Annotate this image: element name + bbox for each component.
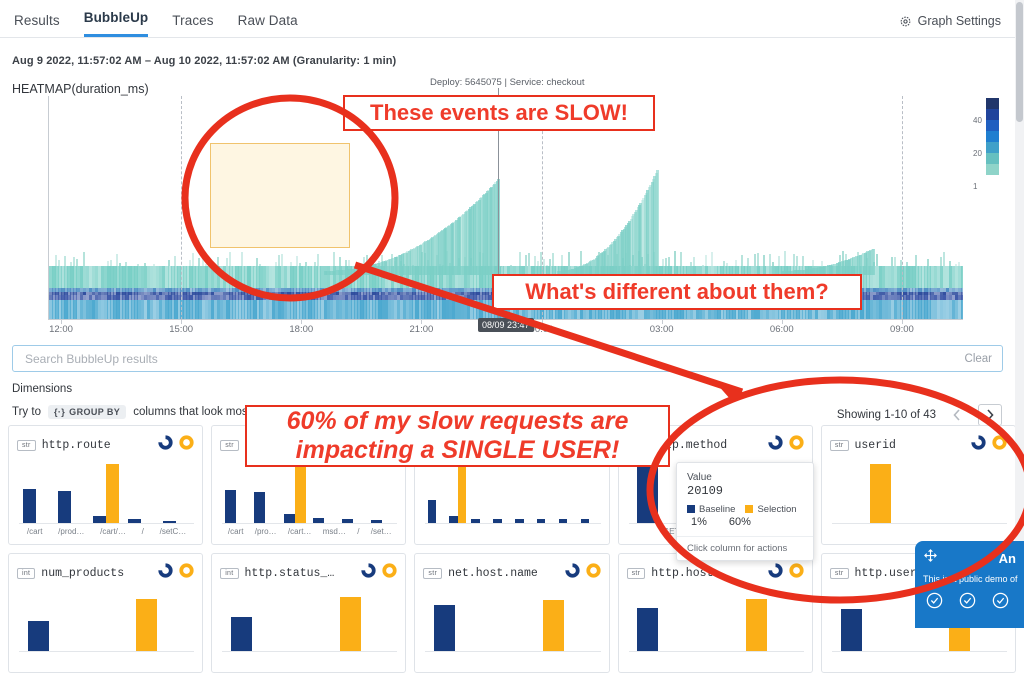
heatmap-cell (348, 260, 350, 266)
demo-banner[interactable]: An This is a public demo of (915, 541, 1024, 628)
heatmap-cell (958, 262, 960, 266)
heatmap-cell (226, 258, 228, 266)
y-axis-tick (48, 141, 49, 142)
heatmap-cell (656, 170, 659, 275)
column-type-badge: str (423, 568, 442, 579)
heatmap-cell (543, 259, 545, 266)
y-axis-tick (48, 208, 49, 209)
category-label: msd… (323, 527, 346, 536)
heatmap-cell (70, 262, 72, 266)
heatmap-cell (345, 260, 347, 266)
heatmap-cell (189, 260, 191, 267)
heatmap-cell (961, 300, 963, 320)
heatmap-cell (202, 251, 204, 266)
card-donuts (971, 435, 1007, 455)
try-prefix-label: Try to (12, 406, 41, 418)
card-bar-chart (222, 464, 397, 524)
value-tooltip: Value 20109 Baseline Selection 1% 60% Cl… (676, 462, 814, 561)
selection-donut-icon[interactable] (179, 563, 194, 583)
heatmap-cell (107, 261, 109, 266)
heatmap-cell (546, 265, 548, 266)
card-category-labels: /cart/pro…/cart…msd…//set… (222, 527, 397, 540)
annotation-sixty-percent-label: 60% of my slow requests are impacting a … (245, 405, 670, 467)
move-icon[interactable] (923, 548, 938, 568)
tab-label: BubbleUp (84, 10, 149, 25)
selection-bar[interactable] (106, 464, 119, 524)
tooltip-footer: Click column for actions (677, 536, 813, 560)
y-axis-tick (48, 186, 49, 187)
dimensions-heading: Dimensions (12, 383, 72, 395)
column-name: http.host (651, 567, 762, 580)
scrollbar-thumb[interactable] (1016, 2, 1023, 122)
x-axis-tick (902, 320, 903, 324)
heatmap-cell (241, 252, 243, 266)
heatmap-cell (174, 256, 176, 266)
banner-top-row: An (915, 541, 1024, 568)
selection-donut-icon[interactable] (789, 563, 804, 583)
baseline-bar[interactable] (225, 490, 236, 524)
legend-swatch (986, 98, 999, 109)
heatmap-cell (796, 256, 798, 267)
heatmap-cell (217, 257, 219, 266)
category-label: /pro… (255, 527, 277, 536)
x-axis-tick-label: 03:00 (650, 324, 674, 335)
heatmap-cell (705, 255, 707, 266)
tooltip-selection-legend: Selection (745, 504, 796, 515)
time-range-label: Aug 9 2022, 11:57:02 AM – Aug 10 2022, 1… (12, 55, 396, 67)
baseline-donut-icon[interactable] (158, 563, 173, 583)
heatmap-cell (73, 257, 75, 267)
next-page-button[interactable] (978, 404, 1002, 426)
baseline-donut-icon[interactable] (158, 435, 173, 455)
heatmap-cell (915, 255, 917, 266)
category-label: /set… (371, 527, 392, 536)
dimension-card[interactable]: intnum_products (8, 553, 203, 673)
legend-swatch (986, 142, 999, 153)
heatmap-cell (55, 255, 57, 267)
heatmap-cell (723, 261, 725, 267)
heatmap-cell (568, 252, 570, 266)
gear-icon (899, 15, 912, 28)
heatmap-cell (894, 257, 896, 266)
selection-bar[interactable] (746, 599, 767, 652)
card-bar-chart (222, 592, 397, 652)
baseline-bar[interactable] (841, 609, 862, 652)
heatmap-cell (872, 249, 875, 276)
card-axis-line (425, 651, 600, 652)
tab-bar: Results BubbleUp Traces Raw Data Graph S… (0, 0, 1015, 38)
selection-bar[interactable] (870, 464, 891, 524)
check-circle-icon[interactable] (925, 591, 944, 615)
column-type-badge: str (830, 568, 849, 579)
heatmap-cell (769, 254, 771, 266)
selection-bar[interactable] (136, 599, 157, 652)
graph-settings-label: Graph Settings (918, 14, 1001, 28)
baseline-bar[interactable] (428, 500, 436, 524)
heatmap-cell (741, 255, 743, 266)
legend-swatch (986, 120, 999, 131)
column-name: num_products (41, 567, 152, 580)
card-axis-line (19, 523, 194, 524)
category-label: /prod… (58, 527, 84, 536)
annotation-different-label: What's different about them? (492, 274, 862, 310)
card-row: intnum_productsinthttp.status_…strnet.ho… (8, 553, 1016, 673)
cursor-time-flag: 08/09 23:47 (478, 318, 534, 332)
baseline-bar[interactable] (254, 492, 265, 524)
x-axis-tick (301, 320, 302, 324)
annotation-slow-label: These events are SLOW! (343, 95, 655, 131)
selection-bar[interactable] (295, 464, 306, 524)
y-axis-tick (48, 163, 49, 164)
heatmap-cell (711, 252, 713, 266)
heatmap-cell (693, 257, 695, 266)
heatmap-cell (290, 262, 292, 266)
pagination: Showing 1-10 of 43 (837, 404, 1002, 426)
tab-results[interactable]: Results (14, 13, 60, 37)
tooltip-baseline-pct: 1% (691, 516, 707, 528)
heatmap-cell (119, 263, 121, 266)
card-axis-line (222, 651, 397, 652)
card-axis-line (425, 523, 600, 524)
column-type-badge: str (830, 440, 849, 451)
group-by-label: GROUP BY (69, 407, 120, 417)
tooltip-value-label: Value (687, 472, 803, 483)
card-bar-chart (19, 464, 194, 524)
legend-swatch (986, 131, 999, 142)
heatmap-cell (961, 292, 963, 295)
x-axis-tick (421, 320, 422, 324)
deploy-marker-label: Deploy: 5645075 | Service: checkout (430, 77, 585, 88)
tooltip-body: Value 20109 Baseline Selection 1% 60% (677, 463, 813, 536)
search-bar[interactable]: Clear (12, 345, 1003, 372)
heatmap-cell (891, 257, 893, 266)
heatmap-cell (537, 261, 539, 266)
column-type-badge: int (17, 568, 35, 579)
brackets-icon: {·} (54, 407, 65, 417)
search-input[interactable] (23, 351, 965, 367)
selection-donut-icon[interactable] (179, 435, 194, 455)
heatmap-cell (198, 258, 200, 266)
heatmap-cell (784, 251, 786, 267)
selection-bar[interactable] (340, 597, 361, 652)
y-axis-tick (48, 230, 49, 231)
card-axis-line (832, 651, 1007, 652)
x-axis-tick-label: 21:00 (410, 324, 434, 335)
legend-tick-label: 40 (973, 116, 982, 125)
x-axis-tick (542, 320, 543, 324)
dimension-card[interactable]: strnet.host.name (414, 553, 609, 673)
selection-bar[interactable] (543, 600, 564, 652)
banner-subtitle: This is a public demo of (915, 568, 1024, 584)
heatmap-cell (519, 252, 521, 266)
heatmap-cell (281, 254, 283, 266)
x-axis-tick-label: 09:00 (890, 324, 914, 335)
category-label: / (142, 527, 144, 536)
card-axis-line (832, 523, 1007, 524)
column-name: net.host.name (448, 567, 559, 580)
y-axis-tick (48, 118, 49, 119)
heatmap-cell (763, 255, 765, 266)
heatmap-cell (299, 263, 301, 266)
baseline-donut-icon[interactable] (565, 563, 580, 583)
heatmap-cell (528, 253, 530, 266)
heatmap-cell (961, 295, 963, 300)
selection-donut-icon[interactable] (382, 563, 397, 583)
card-donuts (158, 563, 194, 583)
baseline-bar[interactable] (434, 605, 455, 652)
baseline-bar[interactable] (23, 489, 36, 524)
card-donuts (768, 435, 804, 455)
heatmap-cell (754, 254, 756, 266)
card-category-labels: /cart/prod…/cart/…//setC… (19, 527, 194, 540)
category-label: /cart (27, 527, 43, 536)
tooltip-legend: Baseline Selection (687, 504, 803, 515)
legend-swatch (986, 153, 999, 164)
baseline-bar[interactable] (231, 617, 252, 652)
group-by-button[interactable]: {·} GROUP BY (48, 405, 126, 419)
showing-label: Showing 1-10 of 43 (837, 409, 936, 421)
chart-gridline (902, 96, 903, 320)
heatmap-cell (680, 252, 682, 266)
heatmap-cell (116, 254, 118, 267)
heatmap-cell (314, 262, 316, 266)
heatmap-cell (339, 257, 341, 266)
heatmap-cell (214, 264, 216, 266)
x-axis-tick-label: 18:00 (289, 324, 313, 335)
heatmap-cell (229, 252, 231, 266)
selection-donut-icon[interactable] (586, 563, 601, 583)
heatmap-cell (525, 255, 527, 266)
card-donuts (158, 435, 194, 455)
legend-tick-label: 20 (973, 149, 982, 158)
baseline-bar[interactable] (637, 608, 658, 652)
card-bar-chart (19, 592, 194, 652)
tab-label: Traces (172, 13, 213, 28)
column-name: http.status_… (245, 567, 356, 580)
card-header: strnet.host.name (415, 554, 608, 583)
heatmap-cell (668, 257, 670, 266)
heatmap-cell (772, 262, 774, 266)
category-label: / (357, 527, 359, 536)
heatmap-cell (110, 260, 112, 266)
heatmap-cell (153, 264, 155, 266)
card-axis-line (19, 651, 194, 652)
category-label: /setC… (160, 527, 187, 536)
heatmap-cell (256, 258, 258, 267)
heatmap-cell (949, 261, 951, 266)
heatmap-cell (961, 266, 963, 288)
clear-search-button[interactable]: Clear (965, 353, 992, 365)
card-bar-chart (425, 464, 600, 524)
heatmap-cell (192, 253, 194, 267)
heatmap-cell (876, 254, 878, 266)
x-axis-tick (662, 320, 663, 324)
heatmap-cell (561, 255, 563, 267)
dimension-card[interactable]: struserid (821, 425, 1016, 545)
legend-swatch (986, 164, 999, 175)
banner-checks (915, 584, 1024, 615)
heatmap-cell (927, 259, 929, 266)
heatmap-cell (296, 256, 298, 266)
heatmap-cell (580, 251, 582, 267)
dimension-card[interactable]: strhttp.host (618, 553, 813, 673)
tab-traces[interactable]: Traces (172, 13, 213, 37)
heatmap-cell (275, 262, 277, 267)
legend-swatch (986, 109, 999, 120)
card-header: struserid (822, 426, 1015, 455)
heatmap-cell (64, 256, 66, 266)
card-donuts (565, 563, 601, 583)
heatmap-cell (137, 264, 139, 266)
baseline-donut-icon[interactable] (971, 435, 986, 455)
heatmap-cell (726, 263, 728, 266)
heatmap-cell (278, 255, 280, 266)
heatmap-cell (906, 262, 908, 266)
annotation-sixty-line1: 60% of my slow requests are (287, 407, 629, 436)
dimension-card[interactable]: inthttp.status_… (211, 553, 406, 673)
page-scrollbar[interactable] (1015, 0, 1024, 628)
heatmap-cell (83, 252, 85, 267)
banner-title: An (999, 551, 1016, 566)
heatmap-cell (549, 259, 551, 267)
heatmap-cell (747, 258, 749, 267)
card-bar-chart (425, 592, 600, 652)
card-header: intnum_products (9, 554, 202, 583)
heatmap-cell (943, 252, 945, 266)
dimension-card[interactable]: strhttp.route/cart/prod…/cart/…//setC… (8, 425, 203, 545)
heatmap-cell (961, 288, 963, 292)
heatmap-cell (802, 256, 804, 266)
heatmap-cell (510, 265, 512, 266)
tooltip-percents: 1% 60% (687, 516, 803, 528)
column-type-badge: str (627, 568, 646, 579)
heatmap-cell (144, 263, 146, 266)
card-donuts (768, 563, 804, 583)
heatmap-cell (778, 256, 780, 266)
selection-donut-icon[interactable] (992, 435, 1007, 455)
annotation-arrow-head (716, 383, 748, 404)
card-bar-chart (629, 592, 804, 652)
heatmap-cell (757, 253, 759, 266)
card-donuts (361, 563, 397, 583)
chart-gridline (181, 96, 182, 320)
baseline-donut-icon[interactable] (768, 435, 783, 455)
x-axis-tick (181, 320, 182, 324)
column-name: http.route (42, 439, 153, 452)
y-axis-tick (48, 253, 49, 254)
chart-title: HEATMAP(duration_ms) (12, 82, 149, 96)
annotation-sixty-line2: impacting a SINGLE USER! (296, 436, 620, 465)
heatmap-cell (674, 251, 676, 266)
tab-bubbleup[interactable]: BubbleUp (84, 10, 149, 37)
card-bar-chart (832, 464, 1007, 524)
x-axis-tick-label: 06:00 (770, 324, 794, 335)
column-name: userid (855, 439, 966, 452)
tooltip-value: 20109 (687, 484, 803, 498)
heatmap-cell (534, 256, 536, 266)
heatmap-cell (940, 257, 942, 267)
tab-rawdata[interactable]: Raw Data (238, 13, 298, 37)
check-circle-icon[interactable] (991, 591, 1010, 615)
y-axis-tick (48, 96, 49, 97)
graph-settings-button[interactable]: Graph Settings (899, 14, 1001, 37)
x-axis-tick (61, 320, 62, 324)
tab-label: Results (14, 13, 60, 28)
heatmap-cell (702, 265, 704, 266)
category-label: /cart (228, 527, 244, 536)
selection-bar[interactable] (458, 464, 466, 524)
check-circle-icon[interactable] (958, 591, 977, 615)
heatmap-cell (259, 264, 261, 266)
column-type-badge: str (17, 440, 36, 451)
heatmap-cell (76, 259, 78, 266)
heatmap-cell (735, 260, 737, 267)
baseline-donut-icon[interactable] (768, 563, 783, 583)
column-type-badge: str (220, 440, 239, 451)
heatmap-cell (333, 252, 335, 266)
card-axis-line (629, 651, 804, 652)
category-label: /cart… (288, 527, 312, 536)
x-axis-tick-label: 12:00 (49, 324, 73, 335)
card-header: inthttp.status_… (212, 554, 405, 583)
x-axis-tick (782, 320, 783, 324)
heatmap-cell (690, 262, 692, 266)
baseline-donut-icon[interactable] (361, 563, 376, 583)
heatmap-cell (955, 264, 957, 266)
baseline-bar[interactable] (58, 491, 71, 524)
heatmap-cell (363, 257, 365, 266)
card-axis-line (222, 523, 397, 524)
heatmap-cell (305, 262, 307, 266)
tab-label: Raw Data (238, 13, 298, 28)
heatmap-cell (793, 254, 795, 266)
heatmap-cell (552, 253, 554, 266)
category-label: /cart/… (100, 527, 126, 536)
x-axis-tick-label: 15:00 (169, 324, 193, 335)
heatmap-cell (205, 264, 207, 266)
heatmap-cell (58, 260, 60, 267)
heatmap-cell (125, 262, 127, 266)
tooltip-baseline-legend: Baseline (687, 504, 735, 515)
tooltip-selection-pct: 60% (729, 516, 751, 528)
heatmap-cell (168, 260, 170, 266)
heatmap-legend: 40201 (975, 98, 1005, 175)
heatmap-cell (665, 258, 667, 266)
column-type-badge: int (220, 568, 238, 579)
chart-selection-rectangle[interactable] (210, 143, 350, 248)
card-header: strhttp.route (9, 426, 202, 455)
selection-donut-icon[interactable] (789, 435, 804, 455)
baseline-bar[interactable] (28, 621, 49, 652)
heatmap-cell (208, 261, 210, 266)
heatmap-cell (812, 260, 814, 266)
legend-tick-label: 1 (973, 182, 977, 191)
prev-page-button[interactable] (945, 404, 969, 426)
heatmap-cell (317, 254, 319, 267)
heatmap-cell (662, 259, 664, 266)
baseline-bar[interactable] (637, 467, 658, 524)
